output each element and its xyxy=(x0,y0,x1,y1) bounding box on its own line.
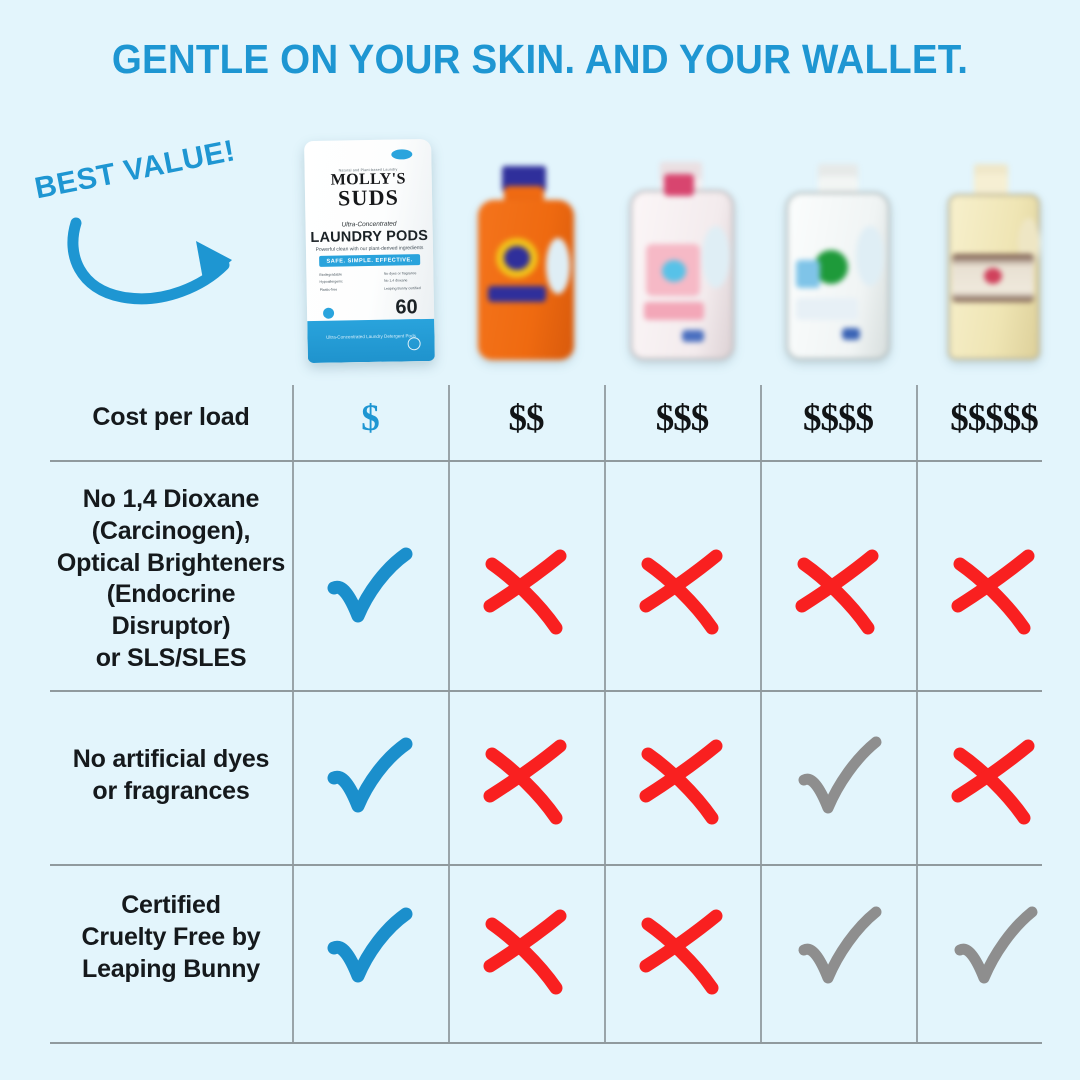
row-divider xyxy=(50,690,1042,692)
row-label-line: or fragrances xyxy=(50,776,292,808)
product-image-mollys-suds: Natural and Plant-based Laundry MOLLY'S … xyxy=(292,128,448,368)
cost-value: $$ xyxy=(509,397,544,440)
package-brand-logo: MOLLY'S SUDS xyxy=(305,172,433,209)
cross-red-icon xyxy=(632,540,732,640)
cell-cost-competitor-1: $$ xyxy=(448,394,604,442)
cell-cost-competitor-3: $$$$ xyxy=(760,394,916,442)
cell-dyes-mollys-suds xyxy=(292,720,448,840)
package-bottom-band: Ultra-Concentrated Laundry Detergent Pod… xyxy=(307,319,435,363)
cross-red-icon xyxy=(788,540,888,640)
check-blue-icon xyxy=(320,540,420,640)
curved-arrow-icon xyxy=(64,215,254,310)
cross-red-icon xyxy=(476,730,576,830)
row-label-cruelty-free: Certified Cruelty Free by Leaping Bunny xyxy=(50,890,292,985)
best-value-callout: BEST VALUE! xyxy=(26,163,286,313)
best-value-label: BEST VALUE! xyxy=(32,134,238,206)
cross-red-icon xyxy=(632,730,732,830)
cross-red-icon xyxy=(632,900,732,1000)
row-label-cost-per-load: Cost per load xyxy=(50,402,292,434)
competitor-bottle-orange xyxy=(470,160,582,360)
row-label-no-dioxane: No 1,4 Dioxane (Carcinogen), Optical Bri… xyxy=(50,484,292,675)
cell-cruelty-competitor-1 xyxy=(448,890,604,1010)
infographic-canvas: GENTLE ON YOUR SKIN. AND YOUR WALLET. BE… xyxy=(0,0,1080,1080)
package-subtext: Powerful clean with our plant-derived in… xyxy=(306,245,433,253)
cell-cruelty-competitor-3 xyxy=(760,890,916,1010)
competitor-bottle-white-green xyxy=(780,160,896,360)
check-blue-icon xyxy=(320,900,420,1000)
cell-dyes-competitor-4 xyxy=(916,720,1072,840)
check-gray-icon xyxy=(944,900,1044,1000)
cost-value: $$$ xyxy=(656,397,709,440)
row-label-line: Cost per load xyxy=(50,402,292,434)
row-label-line: Optical Brighteners xyxy=(50,548,292,580)
cross-red-icon xyxy=(476,900,576,1000)
row-label-line: No 1,4 Dioxane xyxy=(50,484,292,516)
cross-red-icon xyxy=(944,730,1044,830)
row-divider xyxy=(50,1042,1042,1044)
cell-dioxane-competitor-2 xyxy=(604,530,760,650)
row-label-no-dyes: No artificial dyes or fragrances xyxy=(50,744,292,808)
cross-red-icon xyxy=(476,540,576,640)
row-label-line: Leaping Bunny xyxy=(50,954,292,986)
cell-cruelty-competitor-4 xyxy=(916,890,1072,1010)
product-image-competitor-4 xyxy=(916,128,1072,368)
bullet-item: Leaping Bunny certified xyxy=(384,285,421,293)
cell-cruelty-mollys-suds xyxy=(292,890,448,1010)
competitor-bottle-yellow xyxy=(944,162,1048,360)
package-bullets-left: Biodegradable Hypoallergenic Plastic-fre… xyxy=(319,271,343,293)
cell-dioxane-competitor-3 xyxy=(760,530,916,650)
pod-count-number: 60 xyxy=(392,297,421,318)
cell-dyes-competitor-3 xyxy=(760,720,916,840)
cell-cost-mollys-suds: $ xyxy=(292,394,448,442)
cell-cruelty-competitor-2 xyxy=(604,890,760,1010)
product-image-competitor-1 xyxy=(448,128,604,368)
row-label-line: or SLS/SLES xyxy=(50,643,292,675)
cell-dyes-competitor-1 xyxy=(448,720,604,840)
package-bullets-right: No dyes or fragrance No 1,4 dioxane Leap… xyxy=(384,270,421,293)
package-banner: SAFE. SIMPLE. EFFECTIVE. xyxy=(319,254,420,267)
row-label-line: (Endocrine Disruptor) xyxy=(50,579,292,643)
cross-red-icon xyxy=(944,540,1044,640)
row-label-line: No artificial dyes xyxy=(50,744,292,776)
product-image-competitor-3 xyxy=(760,128,916,368)
row-label-line: (Carcinogen), xyxy=(50,516,292,548)
comparison-table: Cost per load $ $$ $$$ $$$$ $$$$$ No 1,4… xyxy=(50,372,1042,1044)
package-bullets: Biodegradable Hypoallergenic Plastic-fre… xyxy=(319,270,420,294)
cell-dioxane-competitor-4 xyxy=(916,530,1072,650)
cell-dioxane-competitor-1 xyxy=(448,530,604,650)
row-label-line: Cruelty Free by xyxy=(50,922,292,954)
competitor-bottle-pink xyxy=(624,160,740,360)
package-seal-icon xyxy=(408,337,421,350)
pouch-tab-icon xyxy=(391,149,412,159)
row-divider xyxy=(50,864,1042,866)
package-product-name: LAUNDRY PODS xyxy=(306,228,433,246)
brand-line-2: SUDS xyxy=(305,187,432,209)
cost-value: $$$$$ xyxy=(950,397,1038,440)
row-label-line: Certified xyxy=(50,890,292,922)
bullet-item: Plastic-free xyxy=(320,286,343,294)
bullet-item: Hypoallergenic xyxy=(319,279,342,287)
product-image-competitor-2 xyxy=(604,128,760,368)
cell-cost-competitor-2: $$$ xyxy=(604,394,760,442)
check-gray-icon xyxy=(788,900,888,1000)
cost-value: $ xyxy=(361,397,379,440)
cell-cost-competitor-4: $$$$$ xyxy=(916,394,1072,442)
scent-dot-icon xyxy=(323,308,334,319)
product-image-strip: Natural and Plant-based Laundry MOLLY'S … xyxy=(292,128,1042,368)
mollys-suds-package: Natural and Plant-based Laundry MOLLY'S … xyxy=(304,139,435,363)
cell-dioxane-mollys-suds xyxy=(292,530,448,650)
page-title: GENTLE ON YOUR SKIN. AND YOUR WALLET. xyxy=(32,36,1047,83)
cell-dyes-competitor-2 xyxy=(604,720,760,840)
check-blue-icon xyxy=(320,730,420,830)
check-gray-icon xyxy=(788,730,888,830)
cost-value: $$$$ xyxy=(803,397,873,440)
row-divider xyxy=(50,460,1042,462)
